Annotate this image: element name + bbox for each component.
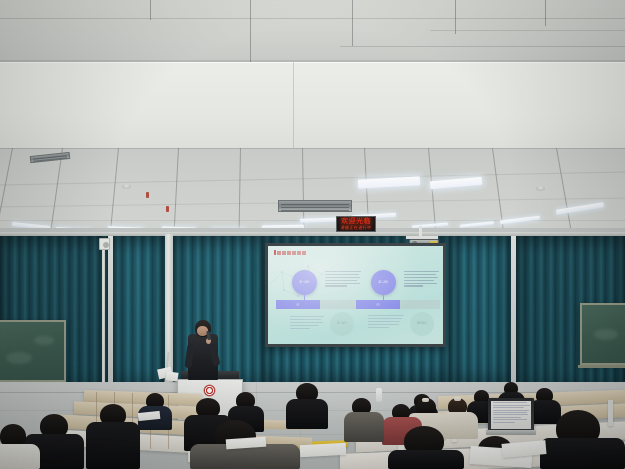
audience-torso [440,412,478,439]
handout-paper [300,443,347,457]
slide-bubble-4-label: 第四部分 [410,323,434,326]
ceiling-vent-center [278,200,352,212]
curtain-center-right [449,236,511,388]
ceiling-panel-light [358,176,420,188]
slide-timeline-track: 01 03 [276,300,440,309]
slide-bubble-3: 第三部分 [330,312,354,336]
slide-text-block-2 [404,271,439,288]
slide-text-block-1 [325,271,361,288]
smoke-detector-icon [122,184,131,189]
laptop-base [486,430,536,435]
audience-torso-front [86,422,140,469]
hair-clip-icon [454,397,461,401]
chalkboard-right-tray [578,365,625,368]
slide-bubble-2: 第二部分 [371,270,396,295]
water-bottle [376,388,382,402]
sprinkler-icon [166,206,169,212]
slide-bubble-1-label: 第一部分 [292,281,317,284]
ceiling-near-section [0,148,625,236]
audience-torso-front [388,450,464,469]
podium-side-paper [165,371,178,382]
lecture-hall-photo: 欢迎光临 讲座正在进行中 [0,0,625,469]
audience-torso [344,412,384,442]
laptop-screen[interactable] [491,401,531,429]
ceiling-soffit-beam [0,62,625,150]
led-marquee-sign: 欢迎光临 讲座正在进行中 [336,216,376,232]
slide-bubble-3-label: 第三部分 [330,323,354,326]
slide-text-block-3 [290,316,324,330]
ceiling-panel-light [430,177,482,190]
hair-clip-icon [422,398,429,402]
slide-timeline-segment-3: 03 [356,300,400,309]
smoke-detector-icon [536,186,545,191]
ceiling-tube-light [556,202,604,214]
wall-speaker-box [99,238,110,250]
chalkboard-left [0,320,66,382]
curtain-left-inner [113,236,165,391]
audience-torso [286,399,328,429]
ceiling-far-section [0,0,625,70]
slide-header-banner [274,250,306,255]
slide-bubble-4: 第四部分 [410,312,434,336]
audience-torso-front [0,444,40,469]
sprinkler-icon [146,192,149,198]
chalkboard-right [580,303,625,365]
projection-screen[interactable]: 第一部分 第二部分 [268,246,443,344]
audience-torso-front [540,438,625,469]
slide-text-block-4 [368,315,404,329]
desk-leg [608,400,613,426]
slide-bubble-1: 第一部分 [292,270,317,295]
slide-bubble-2-label: 第二部分 [371,281,396,284]
led-sign-line1: 欢迎光临 [341,218,371,225]
wall-conduit [102,250,105,382]
slide-timeline-segment-1: 01 [276,300,320,309]
led-sign-line2: 讲座正在进行中 [341,226,372,230]
ceiling-tube-light [500,216,540,225]
soffit-seam [293,62,294,150]
podium-emblem-icon [204,385,215,396]
ceiling-tube-light [460,221,494,228]
ceiling-vent-left [30,152,71,163]
projection-screen-frame: 第一部分 第二部分 [265,243,446,347]
